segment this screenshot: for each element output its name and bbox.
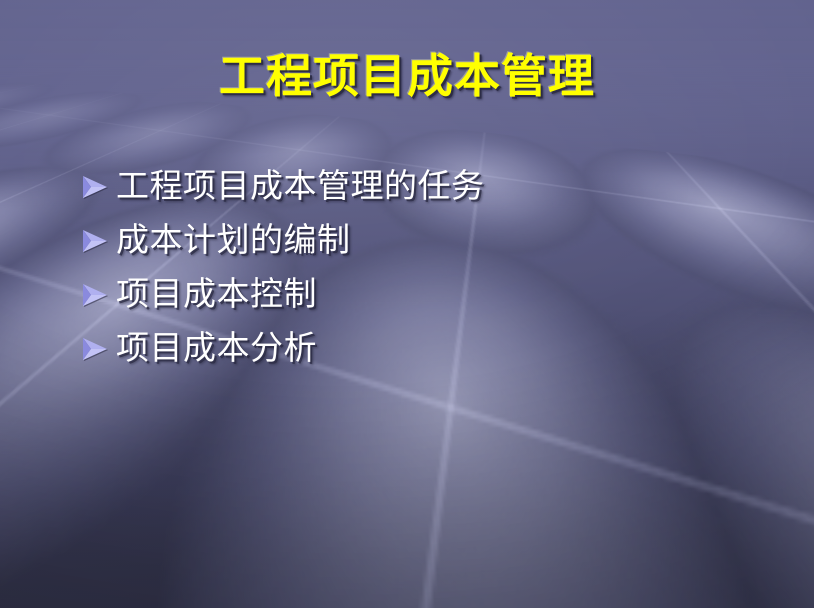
list-item[interactable]: 成本计划的编制 (78, 222, 718, 276)
list-item[interactable]: 项目成本控制 (78, 276, 718, 330)
list-item-label: 工程项目成本管理的任务 (116, 168, 485, 206)
presentation-slide: 工程项目成本管理 工程项目成本管理的任务 成本计划的编制 (0, 0, 814, 608)
list-item[interactable]: 项目成本分析 (78, 330, 718, 384)
arrowhead-bullet-icon (78, 332, 112, 366)
arrowhead-bullet-icon (78, 278, 112, 312)
arrowhead-bullet-icon (78, 224, 112, 258)
slide-title: 工程项目成本管理 (0, 48, 814, 104)
arrowhead-bullet-icon (78, 170, 112, 204)
list-item-label: 成本计划的编制 (116, 222, 351, 260)
list-item-label: 项目成本控制 (116, 276, 317, 314)
bullet-list: 工程项目成本管理的任务 成本计划的编制 项目成本控制 (78, 168, 718, 384)
list-item-label: 项目成本分析 (116, 330, 317, 368)
list-item[interactable]: 工程项目成本管理的任务 (78, 168, 718, 222)
